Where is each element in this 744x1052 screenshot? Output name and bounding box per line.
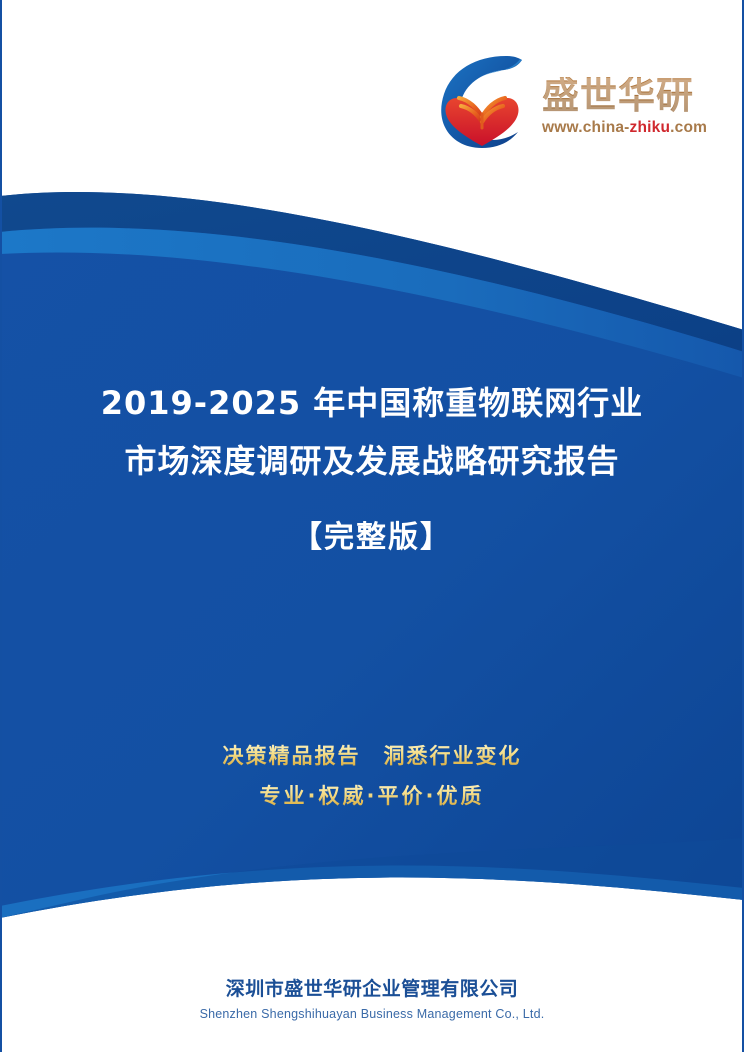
slogan-line-2: 专业·权威·平价·优质 <box>0 776 744 816</box>
report-title-line-1: 2019-2025 年中国称重物联网行业 <box>0 374 744 432</box>
report-cover-page: 盛世华研 www.china-zhiku.com 2019-2025 年中国称重… <box>0 0 744 1052</box>
logo-company-name-cn: 盛世华研 <box>542 77 707 116</box>
logo-url-prefix: www.china- <box>542 119 630 136</box>
cover-slogan-block: 决策精品报告 洞悉行业变化 专业·权威·平价·优质 <box>0 736 744 816</box>
report-edition-badge: 【完整版】 <box>0 516 744 560</box>
swoosh-book-heart-icon <box>432 48 536 152</box>
cover-title-block: 2019-2025 年中国称重物联网行业 市场深度调研及发展战略研究报告 【完整… <box>0 374 744 560</box>
logo-wordmark: 盛世华研 www.china-zhiku.com <box>542 63 707 137</box>
slogan-line-1: 决策精品报告 洞悉行业变化 <box>0 736 744 776</box>
logo-website-url: www.china-zhiku.com <box>542 119 707 137</box>
footer-company-name-cn: 深圳市盛世华研企业管理有限公司 <box>0 976 744 1002</box>
logo-url-suffix: .com <box>670 119 707 136</box>
footer-company-name-en: Shenzhen Shengshihuayan Business Managem… <box>0 1005 744 1023</box>
cover-footer-block: 深圳市盛世华研企业管理有限公司 Shenzhen Shengshihuayan … <box>0 976 744 1023</box>
report-title-line-2: 市场深度调研及发展战略研究报告 <box>0 432 744 490</box>
brand-logo: 盛世华研 www.china-zhiku.com <box>432 44 718 156</box>
logo-url-highlight: zhiku <box>630 119 671 136</box>
